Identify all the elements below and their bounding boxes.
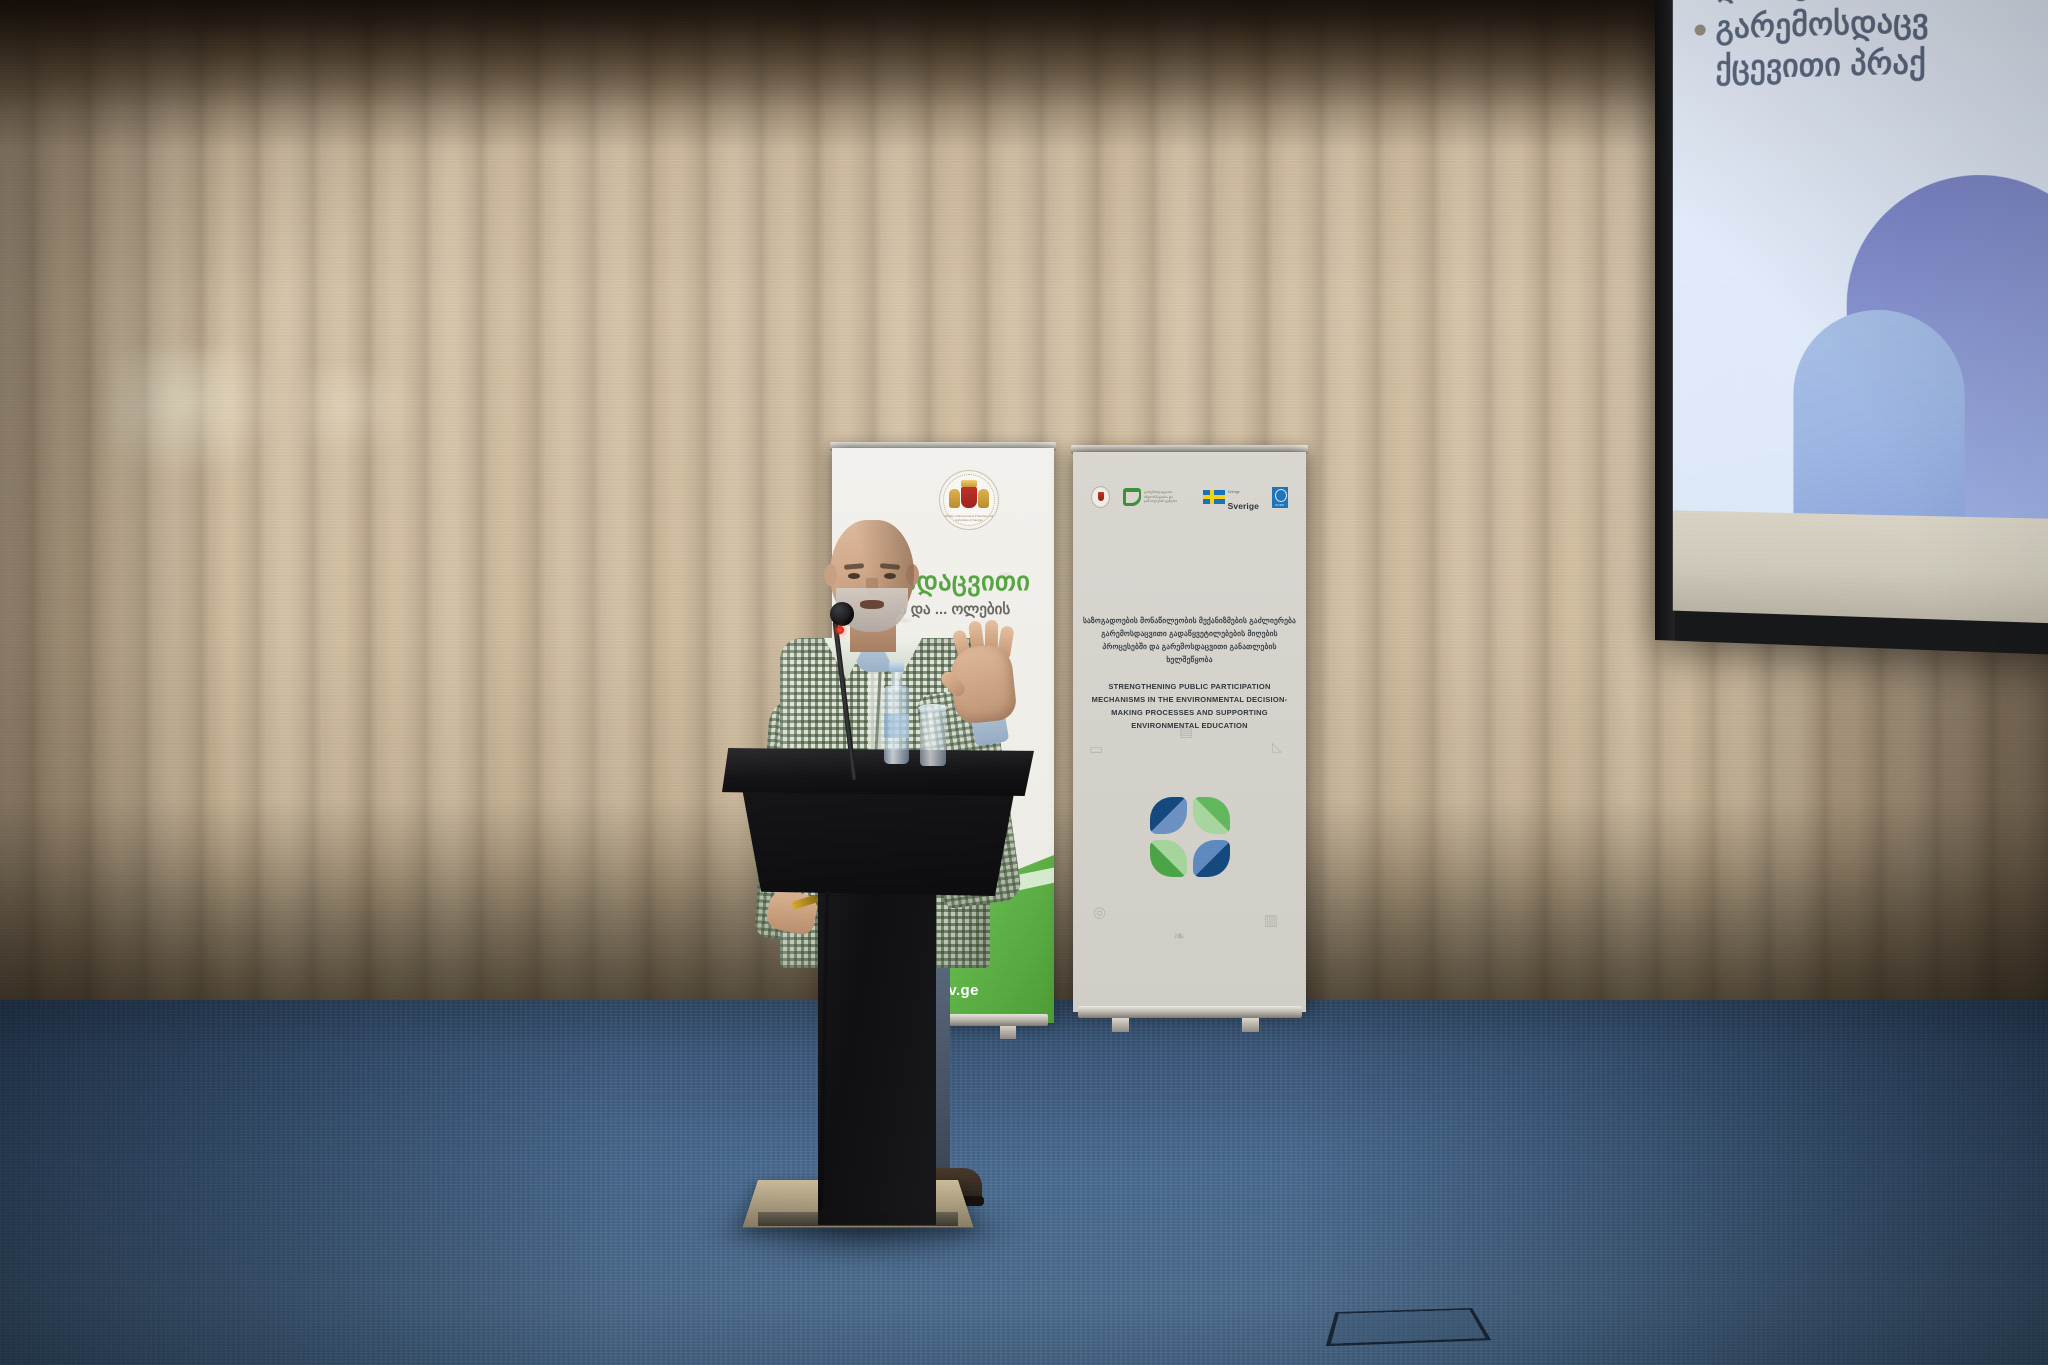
slide-bullet-list: დამოკიდე გარემოსდაცვ ქცევითი პრაქ [1695, 0, 2048, 91]
sweden-flag-logo-icon: Sverige Sverige [1203, 481, 1259, 513]
agency-mark-icon [1123, 488, 1141, 506]
mouth [860, 600, 884, 609]
floor-shadow-left [0, 1000, 620, 1365]
agency-logo-label: გარემოსდაცვითი ინფორმაციისა და განათლები… [1144, 490, 1190, 504]
plant-icon: ❧ [1173, 929, 1186, 944]
slide-bullet-text: ქცევითი პრაქ [1716, 44, 1926, 86]
podium-front-panel [742, 788, 1014, 896]
eye-right [884, 573, 896, 579]
eye-left [848, 573, 860, 579]
petal-bottom-left [1150, 840, 1187, 877]
slide-bullet-text: გარემოსდაცვ [1716, 2, 1929, 46]
banner-project: გარემოსდაცვითი ინფორმაციისა და განათლები… [1073, 452, 1306, 1012]
undp-logo-label: UNDP [1272, 503, 1288, 507]
crown-icon [961, 480, 977, 487]
georgia-coat-of-arms-logo-icon [1091, 486, 1110, 508]
banner-project-logo-row: გარემოსდაცვითი ინფორმაციისა და განათლები… [1073, 480, 1306, 514]
slide-bullet-item: ქცევითი პრაქ [1695, 40, 2048, 87]
petal-top-right [1193, 797, 1230, 834]
lion-supporter-icon [978, 489, 989, 508]
petal-top-left [1150, 797, 1187, 834]
floor-cable-hatch [1326, 1308, 1492, 1346]
bullet-dot-icon [1695, 24, 1706, 35]
lion-supporter-icon [949, 489, 960, 508]
water-bottle-cap [889, 662, 904, 672]
undp-logo-icon: UNDP [1272, 487, 1288, 508]
slide-arch-decoration-small [1793, 310, 1964, 517]
drinking-glass-rim [918, 704, 948, 712]
banner-project-georgian-text: საზოგადოების მონაწილეობის მექანიზმების გ… [1081, 614, 1298, 666]
projection-screen: დამოკიდე გარემოსდაცვ ქცევითი პრაქ [1655, 0, 2048, 655]
four-petal-logo-icon [1150, 797, 1230, 877]
megaphone-icon: ◺ [1272, 740, 1282, 753]
sweden-wordmark-main: Sverige [1228, 501, 1259, 511]
projected-slide: დამოკიდე გარემოსდაცვ ქცევითი პრაქ [1673, 0, 2048, 519]
laptop-icon: ▭ [1089, 742, 1103, 757]
banner-project-stand-base [1078, 1006, 1302, 1018]
curtain-light-reflection [300, 370, 420, 460]
slide-bullet-item: გარემოსდაცვ [1695, 0, 2048, 46]
sweden-wordmark-top: Sverige [1228, 490, 1240, 494]
drinking-glass [920, 708, 946, 766]
microphone-led-indicator [836, 626, 844, 634]
petal-bottom-right [1193, 840, 1230, 877]
sweden-flag-icon [1203, 490, 1225, 504]
conference-photo-scene: დამოკიდე გარემოსდაცვ ქცევითი პრაქ [0, 0, 2048, 1365]
podium-desktop [722, 748, 1034, 796]
water-bottle-label [884, 714, 909, 738]
banner-stand-foot [1112, 1018, 1129, 1032]
environmental-agency-logo-icon: გარემოსდაცვითი ინფორმაციისა და განათლები… [1123, 488, 1190, 506]
presenter-icon: ▥ [1264, 913, 1278, 928]
document-icon: ▤ [1179, 724, 1193, 739]
screen-lower-border [1673, 510, 2048, 623]
banner-stand-foot [1242, 1018, 1259, 1032]
globe-icon: ◎ [1093, 905, 1106, 920]
shield-icon [961, 487, 977, 508]
sweden-wordmark: Sverige Sverige [1228, 481, 1259, 513]
microphone-capsule-icon [830, 602, 854, 626]
